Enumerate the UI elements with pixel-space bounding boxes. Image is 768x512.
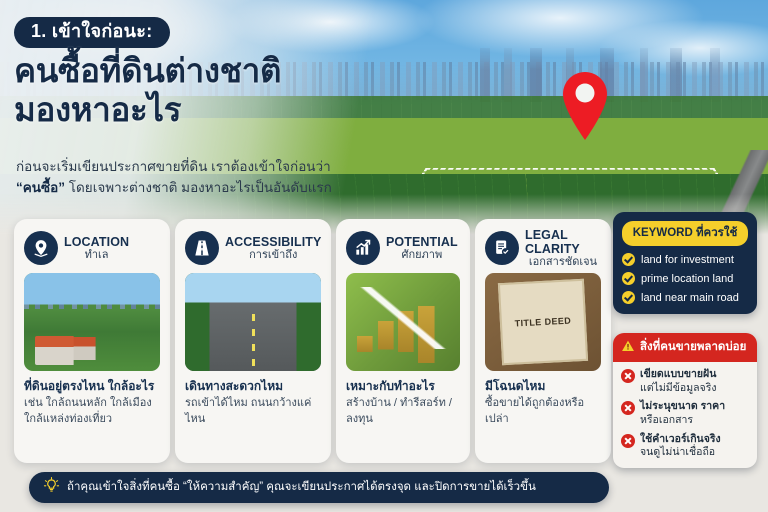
mistake-text: ไม่ระนุขนาด ราคา หรือเอกสาร	[640, 400, 725, 427]
warning-triangle-icon	[621, 339, 635, 356]
card-potential[interactable]: POTENTIAL ศักยภาพ เหมาะกับทำอะไร สร้างบ้…	[336, 219, 470, 463]
keyword-panel-title: KEYWORD ที่ควรใช้	[622, 221, 748, 246]
page-title: คนซื้อที่ดินต่างชาติ มองหาอะไร	[14, 52, 434, 129]
keyword-text: prime location land	[641, 273, 733, 285]
card-body: เดินทางสะดวกไหม รถเข้าได้ไหม ถนนกว้างแค่…	[185, 378, 321, 427]
card-header: POTENTIAL ศักยภาพ	[346, 228, 460, 268]
mistake-line-1: เขียดแบบขายฝัน	[640, 368, 716, 382]
list-item: ใช้คำเวอร์เกินจริง จนดูไม่น่าเชื่อถือ	[621, 433, 749, 460]
mistakes-panel-title: สิ่งที่คนขายพลาดบ่อย	[640, 338, 746, 356]
mistake-line-2: จนดูไม่น่าเชื่อถือ	[640, 446, 715, 458]
card-title-th: ศักยภาพ	[386, 249, 458, 261]
card-title-block: POTENTIAL ศักยภาพ	[386, 235, 458, 261]
x-circle-icon	[621, 401, 635, 415]
card-title-en: LOCATION	[64, 235, 129, 249]
card-title-en: ACCESSIBILITY	[225, 235, 321, 249]
headline-line-1: คนซื้อที่ดินต่างชาติ	[14, 52, 281, 89]
card-title-th: เอกสารชัดเจน	[525, 256, 601, 268]
check-icon	[622, 253, 635, 266]
card-header: ACCESSIBILITY การเข้าถึง	[185, 228, 321, 268]
subtitle-line-1: ก่อนจะเริ่มเขียนประกาศขายที่ดิน เราต้องเ…	[16, 157, 416, 178]
headline-line-2: มองหาอะไร	[14, 91, 434, 130]
list-item: land for investment	[622, 253, 748, 266]
subtitle-rest: โดยเจพาะต่างชาติ มองหาอะไรเป็นอันดับแรก	[65, 180, 332, 195]
card-body: ที่ดินอยู่ตรงไหน ใกล้อะไร เช่น ใกล้ถนนหล…	[24, 378, 160, 427]
card-body: มีโฉนดไหม ซื้อขายได้ถูกต้องหรือเปล่า	[485, 378, 601, 427]
card-location[interactable]: LOCATION ทำเล ที่ดินอยู่ตรงไหน ใกล้อะไร …	[14, 219, 170, 463]
card-description: รถเข้าได้ไหม ถนนกว้างแค่ไหน	[185, 396, 321, 427]
step-badge: 1. เข้าใจก่อนะ:	[14, 17, 170, 48]
list-item: land near main road	[622, 291, 748, 304]
keyword-panel: KEYWORD ที่ควรใช้ land for investment pr…	[613, 212, 757, 314]
subtitle-line-2: “คนซื้อ” โดยเจพาะต่างชาติ มองหาอะไรเป็นอ…	[16, 178, 416, 199]
card-photo-legal: TITLE DEED	[485, 273, 601, 371]
card-title-th: ทำเล	[64, 249, 129, 261]
card-photo-potential	[346, 273, 460, 371]
check-icon	[622, 291, 635, 304]
card-photo-accessibility	[185, 273, 321, 371]
mistakes-panel: สิ่งที่คนขายพลาดบ่อย เขียดแบบขายฝัน แต่ไ…	[613, 333, 757, 468]
mistake-text: เขียดแบบขายฝัน แต่ไม่มีข้อมูลจริง	[640, 368, 716, 395]
map-pin-icon	[24, 231, 58, 265]
card-header: LOCATION ทำเล	[24, 228, 160, 268]
title-deed-label: TITLE DEED	[498, 279, 588, 366]
card-body: เหมาะกับทำอะไร สร้างบ้าน / ทำรีสอร์ท / ล…	[346, 378, 460, 427]
lightbulb-icon	[43, 477, 60, 499]
subtitle-quote: “คนซื้อ”	[16, 180, 65, 195]
infographic-page: 1. เข้าใจก่อนะ: คนซื้อที่ดินต่างชาติ มอง…	[0, 0, 768, 512]
card-title-en: POTENTIAL	[386, 235, 458, 249]
card-header: LEGAL CLARITY เอกสารชัดเจน	[485, 228, 601, 268]
road-icon	[185, 231, 219, 265]
card-description: เช่น ใกล้ถนนหลัก ใกล้เมือง ใกล้แหล่งท่อง…	[24, 396, 160, 427]
mistake-line-2: แต่ไม่มีข้อมูลจริง	[640, 382, 716, 394]
map-pin-icon	[560, 70, 610, 142]
feature-card-row: LOCATION ทำเล ที่ดินอยู่ตรงไหน ใกล้อะไร …	[14, 219, 611, 463]
list-item: เขียดแบบขายฝัน แต่ไม่มีข้อมูลจริง	[621, 368, 749, 395]
keyword-text: land near main road	[641, 292, 739, 304]
subtitle: ก่อนจะเริ่มเขียนประกาศขายที่ดิน เราต้องเ…	[16, 157, 416, 198]
card-question: ที่ดินอยู่ตรงไหน ใกล้อะไร	[24, 378, 160, 394]
keyword-text: land for investment	[641, 254, 734, 266]
mistake-line-1: ใช้คำเวอร์เกินจริง	[640, 433, 721, 447]
list-item: ไม่ระนุขนาด ราคา หรือเอกสาร	[621, 400, 749, 427]
card-title-block: LOCATION ทำเล	[64, 235, 129, 261]
card-description: สร้างบ้าน / ทำรีสอร์ท / ลงทุน	[346, 396, 460, 427]
mistake-text: ใช้คำเวอร์เกินจริง จนดูไม่น่าเชื่อถือ	[640, 433, 721, 460]
card-title-block: LEGAL CLARITY เอกสารชัดเจน	[525, 228, 601, 268]
tip-banner: ถ้าคุณเข้าใจสิ่งที่คนซื้อ “ให้ความสำคัญ”…	[29, 472, 609, 503]
card-description: ซื้อขายได้ถูกต้องหรือเปล่า	[485, 396, 601, 427]
document-check-icon	[485, 231, 519, 265]
card-title-block: ACCESSIBILITY การเข้าถึง	[225, 235, 321, 261]
x-circle-icon	[621, 369, 635, 383]
card-photo-location	[24, 273, 160, 371]
list-item: prime location land	[622, 272, 748, 285]
mistake-line-2: หรือเอกสาร	[640, 414, 693, 426]
card-accessibility[interactable]: ACCESSIBILITY การเข้าถึง เดินทางสะดวกไหม…	[175, 219, 331, 463]
mistake-line-1: ไม่ระนุขนาด ราคา	[640, 400, 725, 414]
growth-chart-icon	[346, 231, 380, 265]
card-question: เดินทางสะดวกไหม	[185, 378, 321, 394]
card-question: มีโฉนดไหม	[485, 378, 601, 394]
card-legal-clarity[interactable]: LEGAL CLARITY เอกสารชัดเจน TITLE DEED มี…	[475, 219, 611, 463]
city-skyline-towers	[470, 48, 768, 102]
card-question: เหมาะกับทำอะไร	[346, 378, 460, 394]
check-icon	[622, 272, 635, 285]
mistakes-panel-header: สิ่งที่คนขายพลาดบ่อย	[613, 333, 757, 362]
mistakes-list: เขียดแบบขายฝัน แต่ไม่มีข้อมูลจริง ไม่ระน…	[613, 362, 757, 468]
card-title-en: LEGAL CLARITY	[525, 228, 601, 256]
x-circle-icon	[621, 434, 635, 448]
card-title-th: การเข้าถึง	[225, 249, 321, 261]
keyword-list: land for investment prime location land …	[622, 253, 748, 304]
tip-banner-text: ถ้าคุณเข้าใจสิ่งที่คนซื้อ “ให้ความสำคัญ”…	[67, 482, 536, 494]
